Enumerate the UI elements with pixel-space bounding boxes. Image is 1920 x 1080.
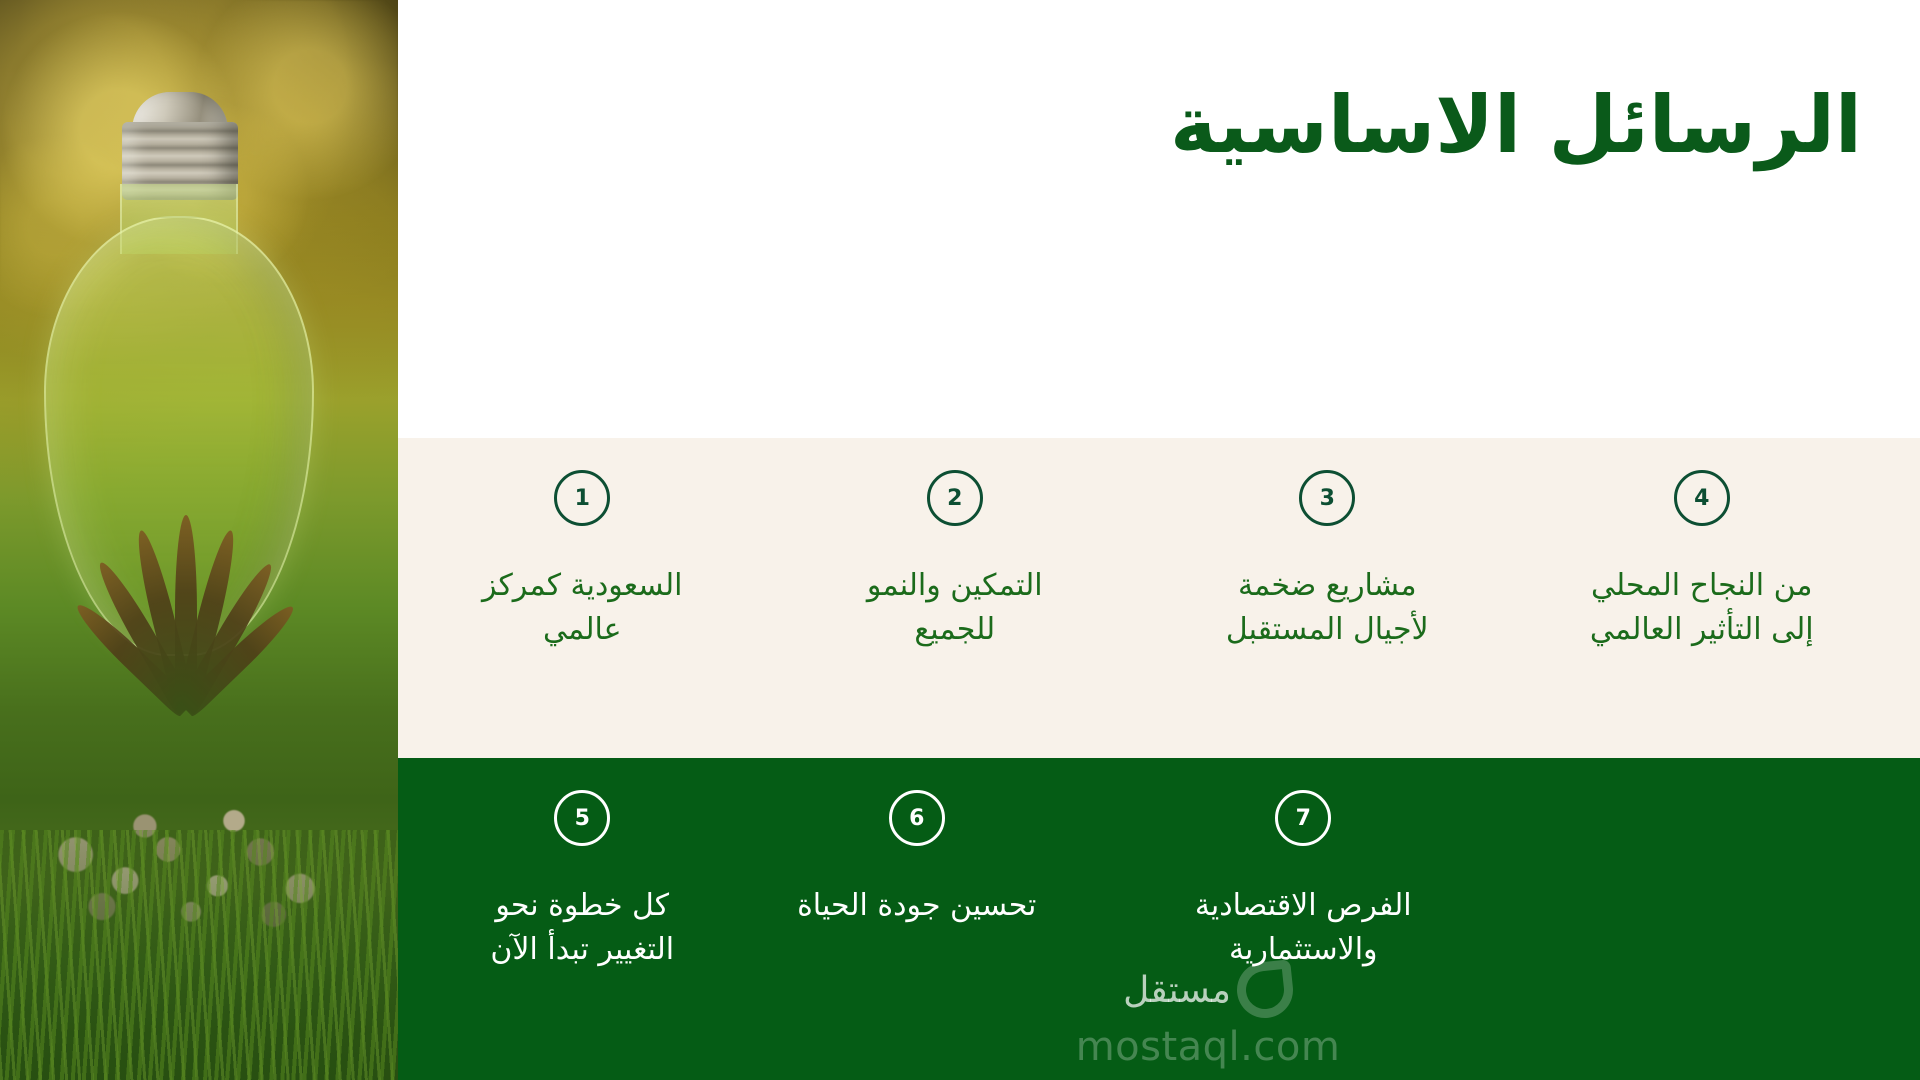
card-text: من النجاح المحلي إلى التأثير العالمي <box>1573 564 1831 651</box>
beige-band: 4 من النجاح المحلي إلى التأثير العالمي 3… <box>398 438 1920 758</box>
card-number-badge: 1 <box>554 470 610 526</box>
card-number-badge: 2 <box>927 470 983 526</box>
slide-title: الرسائل الاساسية <box>1170 82 1862 169</box>
card-number-badge: 5 <box>554 790 610 846</box>
card-number-badge: 6 <box>889 790 945 846</box>
title-area: الرسائل الاساسية <box>398 0 1920 438</box>
message-card[interactable]: 7 الفرص الاقتصادية والاستثمارية <box>1159 758 1540 1080</box>
card-number-badge: 3 <box>1299 470 1355 526</box>
green-band: 7 الفرص الاقتصادية والاستثمارية 6 تحسين … <box>398 758 1920 1080</box>
card-text: السعودية كمركز عالمي <box>453 564 711 651</box>
slide-content: الرسائل الاساسية 4 من النجاح المحلي إلى … <box>398 0 1920 1080</box>
aloe-plant <box>86 420 286 710</box>
message-card[interactable]: 3 مشاريع ضخمة لأجيال المستقبل <box>1159 438 1540 758</box>
card-text: الفرص الاقتصادية والاستثمارية <box>1174 884 1432 971</box>
grass <box>0 830 398 1080</box>
slide-root: الرسائل الاساسية 4 من النجاح المحلي إلى … <box>0 0 1920 1080</box>
message-card[interactable]: 1 السعودية كمركز عالمي <box>398 438 779 758</box>
message-card[interactable]: 6 تحسين جودة الحياة <box>779 758 1160 1080</box>
card-number-badge: 4 <box>1674 470 1730 526</box>
card-text: مشاريع ضخمة لأجيال المستقبل <box>1198 564 1456 651</box>
message-card[interactable]: 2 التمكين والنمو للجميع <box>779 438 1160 758</box>
card-text: التمكين والنمو للجميع <box>826 564 1084 651</box>
message-card[interactable]: 4 من النجاح المحلي إلى التأثير العالمي <box>1540 438 1920 758</box>
message-card-empty <box>1540 758 1920 1080</box>
card-text: تحسين جودة الحياة <box>788 884 1046 928</box>
message-card[interactable]: 5 كل خطوة نحو التغيير تبدأ الآن <box>398 758 779 1080</box>
card-text: كل خطوة نحو التغيير تبدأ الآن <box>453 884 711 971</box>
side-photo <box>0 0 398 1080</box>
card-number-badge: 7 <box>1275 790 1331 846</box>
